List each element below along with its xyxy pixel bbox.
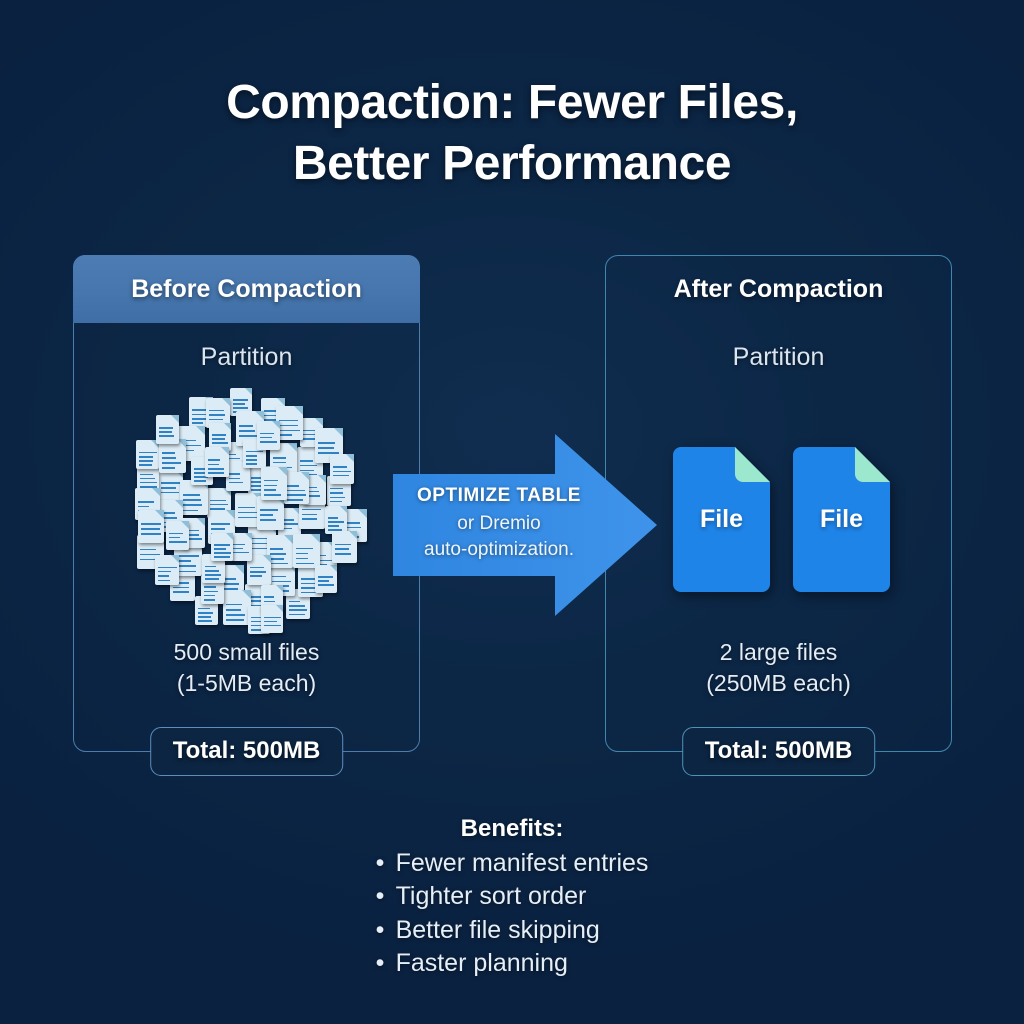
file-text-line — [272, 581, 291, 583]
file-text-line — [270, 558, 284, 560]
arrow-label-line-3: auto-optimization. — [393, 537, 605, 563]
arrow-label: OPTIMIZE TABLE or Dremio auto-optimizati… — [393, 485, 605, 562]
file-text-line — [141, 523, 160, 525]
benefit-item-label: Better file skipping — [396, 916, 600, 944]
file-text-line — [208, 459, 220, 461]
file-text-line — [238, 517, 258, 519]
file-text-line — [205, 574, 221, 576]
file-text-line — [211, 528, 226, 530]
file-text-line — [229, 473, 240, 475]
small-file-icon — [325, 506, 347, 534]
file-text-line — [183, 494, 200, 496]
file-text-line — [246, 459, 257, 461]
folded-corner-icon — [235, 565, 244, 574]
file-text-line — [330, 501, 342, 503]
file-icon: File — [793, 447, 890, 592]
file-text-line — [192, 409, 208, 411]
small-file-icon — [332, 531, 357, 563]
file-text-line — [289, 605, 305, 607]
file-text-line — [140, 474, 153, 476]
file-text-line — [279, 420, 297, 422]
folded-corner-icon — [330, 565, 337, 572]
file-text-line — [226, 604, 242, 606]
file-text-line — [264, 617, 281, 619]
file-text-line — [233, 407, 247, 409]
file-text-line — [158, 571, 171, 573]
arrow-label-bold: OPTIMIZE TABLE — [393, 485, 605, 507]
file-text-line — [318, 580, 330, 582]
small-file-icon — [257, 496, 284, 530]
file-text-line — [192, 422, 204, 424]
file-text-line — [300, 465, 317, 467]
file-text-line — [335, 544, 351, 546]
file-text-line — [296, 548, 313, 550]
file-text-line — [214, 544, 230, 546]
file-text-line — [209, 410, 224, 412]
file-text-line — [250, 567, 264, 569]
file-text-line — [296, 563, 315, 565]
folded-corner-icon — [245, 388, 252, 395]
file-text-line — [162, 457, 177, 459]
file-text-line — [198, 608, 210, 610]
file-text-line — [279, 425, 298, 427]
file-text-line — [212, 438, 226, 440]
file-text-line — [246, 463, 257, 465]
file-text-line — [214, 556, 230, 558]
file-text-line — [233, 403, 245, 405]
small-file-icon — [156, 415, 179, 444]
file-text-line — [287, 490, 306, 492]
file-text-line — [208, 468, 224, 470]
file-text-line — [229, 478, 240, 480]
small-file-icon — [205, 447, 229, 477]
file-text-line — [162, 467, 176, 469]
file-text-line — [296, 558, 309, 560]
file-text-line — [238, 507, 256, 509]
file-text-line — [260, 433, 274, 435]
file-text-line — [279, 430, 300, 432]
file-text-line — [344, 527, 361, 529]
folded-corner-icon — [255, 411, 264, 420]
file-text-line — [161, 492, 178, 494]
file-text-line — [140, 486, 157, 488]
file-text-line — [233, 552, 250, 554]
file-text-line — [318, 442, 335, 444]
file-text-line — [328, 521, 345, 523]
file-text-line — [177, 571, 196, 573]
folded-corner-icon — [288, 443, 297, 452]
file-text-line — [330, 497, 345, 499]
before-caption-line-1: 500 small files — [73, 637, 420, 668]
folded-corner-icon — [221, 447, 229, 455]
file-text-line — [318, 584, 334, 586]
folded-corner-icon — [346, 454, 354, 462]
benefit-item: Better file skipping — [376, 914, 649, 947]
arrow-label-line-2: or Dremio — [393, 511, 605, 537]
file-text-line — [204, 599, 216, 601]
file-text-line — [198, 620, 212, 622]
file-text-line — [289, 609, 307, 611]
right-arrow-icon: OPTIMIZE TABLE or Dremio auto-optimizati… — [393, 430, 657, 620]
file-text-line — [183, 499, 201, 501]
file-text-line — [173, 591, 188, 593]
after-caption: 2 large files (250MB each) — [605, 637, 952, 698]
file-text-line — [250, 571, 267, 573]
file-text-line — [140, 478, 155, 480]
file-text-line — [161, 482, 179, 484]
file-text-line — [139, 452, 157, 454]
file-text-line — [303, 434, 316, 436]
folded-corner-icon — [175, 500, 183, 508]
after-partition-label: Partition — [605, 343, 952, 372]
after-compaction-header: After Compaction — [605, 255, 952, 323]
folded-corner-icon — [222, 398, 230, 406]
file-text-line — [198, 616, 211, 618]
file-text-line — [140, 559, 157, 561]
file-text-line — [209, 414, 225, 416]
folded-corner-icon — [171, 415, 179, 423]
file-text-line — [214, 552, 231, 554]
folded-corner-icon — [226, 510, 235, 519]
file-text-line — [287, 485, 299, 487]
file-text-line — [270, 548, 283, 550]
small-file-icon — [257, 421, 280, 450]
folded-corner-icon — [334, 428, 343, 437]
file-text-line — [183, 510, 198, 512]
file-text-line — [264, 489, 276, 491]
file-text-line — [173, 587, 189, 589]
file-text-line — [264, 494, 282, 496]
small-file-icon — [330, 454, 354, 484]
small-file-icon — [155, 555, 179, 585]
benefit-item: Tighter sort order — [376, 880, 649, 913]
file-text-line — [251, 629, 262, 631]
file-icon: File — [673, 447, 770, 592]
folded-corner-icon — [181, 521, 189, 529]
file-text-line — [328, 525, 339, 527]
file-text-line — [211, 523, 231, 525]
file-text-line — [260, 509, 279, 511]
small-file-icon — [138, 510, 164, 543]
file-text-line — [260, 441, 276, 443]
folded-corner-icon — [242, 590, 251, 599]
file-text-line — [233, 399, 248, 401]
file-text-line — [264, 596, 274, 598]
file-text-line — [158, 580, 170, 582]
folded-corner-icon — [276, 585, 283, 592]
file-text-line — [205, 578, 219, 580]
small-file-icon — [136, 440, 159, 469]
folded-corner-icon — [263, 555, 271, 563]
benefit-item: Faster planning — [376, 947, 649, 980]
file-text-line — [210, 504, 228, 506]
after-caption-line-1: 2 large files — [605, 637, 952, 668]
folded-corner-icon — [197, 518, 205, 526]
file-text-line — [279, 434, 292, 436]
file-text-line — [226, 609, 242, 611]
before-compaction-header-label: Before Compaction — [131, 275, 362, 304]
benefits-section: Benefits: Fewer manifest entriesTighter … — [0, 815, 1024, 980]
file-text-line — [226, 614, 246, 616]
file-text-line — [318, 447, 334, 449]
file-text-line — [246, 451, 264, 453]
before-partition-label: Partition — [73, 343, 420, 372]
file-text-line — [138, 501, 155, 503]
small-file-icon — [284, 472, 309, 504]
file-text-line — [177, 565, 196, 567]
file-text-line — [296, 553, 309, 555]
file-text-line — [300, 460, 313, 462]
file-text-line — [169, 537, 180, 539]
file-text-line — [212, 442, 229, 444]
file-text-line — [264, 625, 281, 627]
file-text-line — [139, 464, 152, 466]
file-text-line — [251, 548, 267, 550]
file-text-line — [140, 482, 157, 484]
small-file-icon — [261, 605, 283, 633]
small-file-icon — [315, 565, 337, 593]
file-text-line — [300, 470, 314, 472]
file-text-line — [333, 466, 348, 468]
file-text-line — [159, 435, 174, 437]
page-title: Compaction: Fewer Files, Better Performa… — [0, 72, 1024, 195]
file-text-line — [159, 431, 172, 433]
small-file-icon — [180, 480, 208, 515]
file-text-line — [229, 482, 243, 484]
file-text-line — [141, 533, 160, 535]
folded-corner-icon — [245, 533, 252, 540]
small-file-icon — [223, 590, 251, 625]
after-compaction-header-label: After Compaction — [674, 275, 884, 304]
file-text-line — [251, 543, 268, 545]
file-text-line — [264, 480, 278, 482]
file-text-line — [177, 555, 199, 557]
file-text-line — [198, 612, 213, 614]
file-text-line — [270, 563, 287, 565]
file-text-line — [210, 500, 226, 502]
file-text-line — [328, 517, 338, 519]
file-text-line — [260, 514, 274, 516]
folded-corner-icon — [171, 555, 179, 563]
benefit-item: Fewer manifest entries — [376, 847, 649, 880]
file-text-line — [212, 434, 226, 436]
folded-corner-icon — [276, 605, 283, 612]
folded-corner-icon — [226, 533, 233, 540]
file-text-line — [260, 437, 272, 439]
small-file-icon — [293, 534, 320, 568]
file-text-line — [239, 430, 256, 432]
file-text-line — [208, 464, 219, 466]
before-caption-line-2: (1-5MB each) — [73, 668, 420, 699]
file-text-line — [238, 512, 258, 514]
folded-corner-icon — [318, 475, 326, 483]
file-text-line — [209, 419, 223, 421]
file-text-line — [260, 519, 276, 521]
file-text-line — [205, 566, 216, 568]
file-text-line — [233, 544, 246, 546]
folded-corner-icon — [278, 467, 287, 476]
file-text-line — [302, 509, 321, 511]
folded-corner-icon — [358, 509, 367, 518]
file-text-line — [302, 514, 317, 516]
file-text-line — [330, 492, 343, 494]
file-text-line — [139, 456, 153, 458]
file-text-line — [194, 472, 205, 474]
file-text-line — [335, 548, 349, 550]
benefit-item-label: Tighter sort order — [396, 882, 587, 910]
file-text-line — [226, 619, 244, 621]
file-text-line — [162, 452, 176, 454]
file-text-line — [273, 462, 287, 464]
file-text-line — [233, 548, 244, 550]
file-text-line — [301, 587, 316, 589]
file-text-line — [246, 455, 257, 457]
before-compaction-header: Before Compaction — [73, 255, 420, 323]
small-file-icon — [230, 533, 252, 561]
benefit-item-label: Fewer manifest entries — [396, 849, 649, 877]
file-text-line — [162, 462, 182, 464]
file-text-line — [205, 570, 219, 572]
small-file-icon — [166, 521, 189, 550]
folded-corner-icon — [196, 426, 205, 435]
file-text-line — [194, 480, 206, 482]
small-files-cluster-icon — [118, 383, 372, 637]
file-text-line — [141, 528, 160, 530]
after-total-badge: Total: 500MB — [682, 727, 876, 776]
file-text-line — [161, 487, 176, 489]
folded-corner-icon — [224, 423, 231, 430]
folded-corner-icon — [349, 531, 357, 539]
file-text-line — [208, 472, 224, 474]
small-file-icon — [267, 535, 293, 568]
after-caption-line-2: (250MB each) — [605, 668, 952, 699]
file-text-line — [183, 504, 202, 506]
small-file-icon — [211, 533, 233, 561]
folded-corner-icon — [152, 488, 160, 496]
title-line-2: Better Performance — [0, 133, 1024, 194]
file-text-line — [287, 499, 303, 501]
file-text-line — [204, 591, 218, 593]
file-text-line — [318, 576, 334, 578]
file-text-line — [159, 427, 173, 429]
file-text-line — [214, 548, 226, 550]
file-text-line — [270, 553, 286, 555]
file-text-line — [330, 488, 343, 490]
file-text-line — [344, 522, 360, 524]
infographic-canvas: Compaction: Fewer Files, Better Performa… — [0, 0, 1024, 1024]
benefits-title: Benefits: — [0, 815, 1024, 843]
file-text-line — [204, 586, 216, 588]
folded-corner-icon — [315, 418, 323, 426]
file-text-line — [239, 425, 253, 427]
folded-corner-icon — [301, 472, 309, 480]
file-text-line — [335, 553, 351, 555]
before-total-badge: Total: 500MB — [150, 727, 344, 776]
folded-corner-icon — [272, 421, 280, 429]
file-text-line — [177, 560, 190, 562]
file-text-line — [272, 576, 286, 578]
file-text-line — [273, 457, 286, 459]
before-caption: 500 small files (1-5MB each) — [73, 637, 420, 698]
file-text-line — [250, 575, 262, 577]
file-text-line — [204, 595, 215, 597]
file-text-line — [333, 475, 350, 477]
file-text-line — [139, 460, 153, 462]
file-text-line — [289, 614, 306, 616]
file-text-line — [158, 567, 177, 569]
small-file-icon — [276, 406, 303, 440]
title-line-1: Compaction: Fewer Files, — [226, 76, 798, 129]
file-text-line — [302, 518, 317, 520]
benefit-item-label: Faster planning — [396, 949, 568, 977]
folded-corner-icon — [294, 406, 303, 415]
after-compaction-panel: After Compaction Partition 2 large files… — [605, 255, 952, 752]
folded-corner-icon — [311, 534, 320, 543]
file-text-line — [138, 506, 150, 508]
file-text-line — [264, 621, 277, 623]
file-text-line — [158, 575, 169, 577]
folded-corner-icon — [340, 506, 347, 513]
file-text-line — [264, 601, 275, 603]
folded-corner-icon — [155, 510, 164, 519]
file-text-line — [239, 435, 257, 437]
file-text-line — [264, 485, 277, 487]
benefits-list: Fewer manifest entriesTighter sort order… — [376, 847, 649, 980]
file-text-line — [169, 541, 187, 543]
file-text-line — [287, 494, 306, 496]
file-text-line — [289, 601, 301, 603]
file-text-line — [169, 533, 183, 535]
small-file-icon — [261, 467, 287, 500]
file-text-line — [333, 471, 352, 473]
file-text-line — [140, 549, 156, 551]
